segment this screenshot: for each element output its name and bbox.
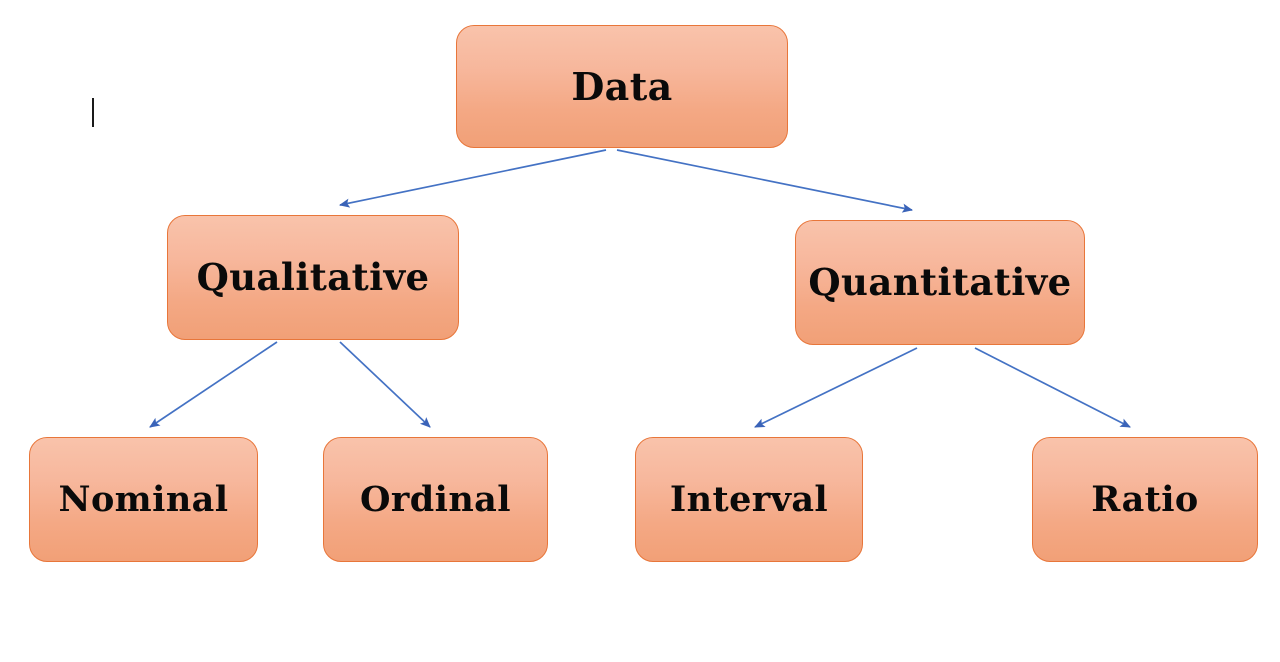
node-qualitative[interactable]: Qualitative [167, 215, 459, 340]
node-qualitative-label: Qualitative [197, 259, 430, 296]
node-interval-label: Interval [670, 482, 828, 517]
node-quantitative[interactable]: Quantitative [795, 220, 1085, 345]
node-nominal[interactable]: Nominal [29, 437, 258, 562]
node-ordinal-label: Ordinal [360, 482, 511, 517]
text-cursor-caret [92, 98, 94, 127]
connector-qualitative-to-nominal [150, 342, 277, 427]
node-ratio[interactable]: Ratio [1032, 437, 1258, 562]
diagram-canvas: Data Qualitative Quantitative Nominal Or… [0, 0, 1280, 662]
node-interval[interactable]: Interval [635, 437, 863, 562]
node-data[interactable]: Data [456, 25, 788, 148]
connector-data-to-qualitative [340, 150, 606, 205]
node-ratio-label: Ratio [1091, 482, 1198, 517]
node-ordinal[interactable]: Ordinal [323, 437, 548, 562]
connector-qualitative-to-ordinal [340, 342, 430, 427]
node-data-label: Data [571, 68, 672, 106]
connector-data-to-quantitative [617, 150, 912, 210]
connector-quantitative-to-ratio [975, 348, 1130, 427]
node-quantitative-label: Quantitative [808, 264, 1071, 301]
node-nominal-label: Nominal [59, 482, 229, 517]
connector-quantitative-to-interval [755, 348, 917, 427]
